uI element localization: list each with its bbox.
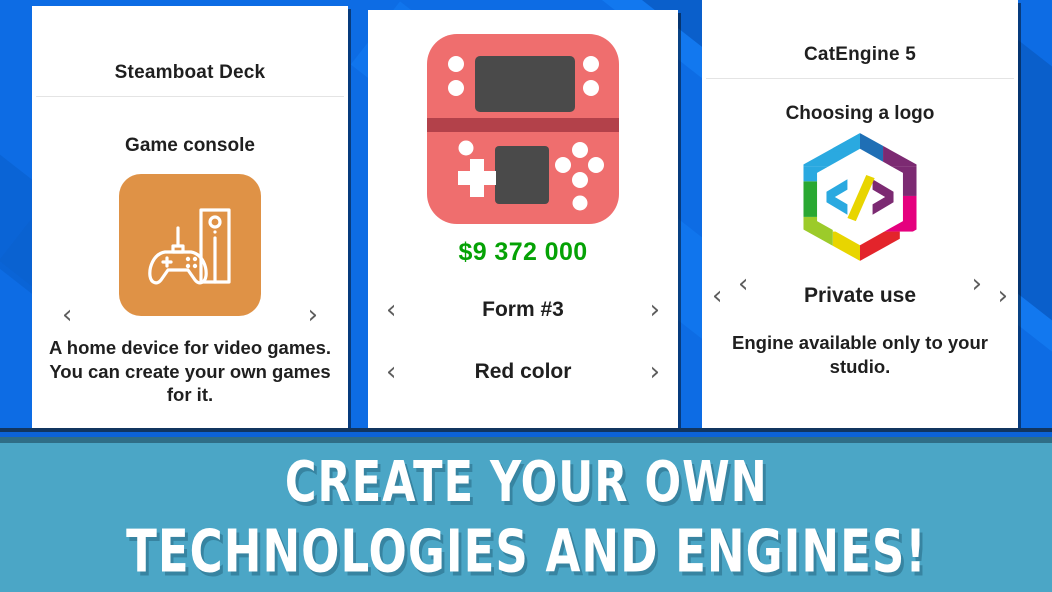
license-picker[interactable]: ‹ Private use › [702,283,1018,309]
color-picker[interactable]: ‹ Red color › [368,359,678,385]
console-card[interactable]: Steamboat Deck Game console [32,6,348,428]
handheld-card-body: $9 372 000 ‹ Form #3 › ‹ Red color › [368,10,678,428]
banner-line-2: Technologies and engines! [126,516,927,585]
color-next-arrow[interactable]: › [650,359,660,385]
banner-line-1: Create your own [285,450,768,515]
engine-card-title: CatEngine 5 [702,0,1018,78]
logo-next-arrow[interactable]: › [972,271,982,297]
promo-banner: Create your own Technologies and engines… [0,443,1052,592]
handheld-console-illustration [427,34,619,224]
engine-card[interactable]: CatEngine 5 Choosing a logo [702,0,1018,428]
engine-card-body: Choosing a logo [702,79,1018,428]
form-prev-arrow[interactable]: ‹ [386,297,396,323]
console-description: A home device for video games. You can c… [32,336,348,407]
engine-description: Engine available only to your studio. [702,331,1018,378]
handheld-card[interactable]: $9 372 000 ‹ Form #3 › ‹ Red color › [368,10,678,428]
console-card-body: Game console [32,97,348,428]
app-screenshot: Steamboat Deck Game console [0,0,1052,592]
console-subtitle: Game console [125,135,255,157]
game-console-icon-tile [119,174,261,316]
form-picker[interactable]: ‹ Form #3 › [368,297,678,323]
logo-prev-arrow[interactable]: ‹ [738,271,748,297]
license-prev-arrow[interactable]: ‹ [712,283,722,309]
console-next-arrow[interactable]: › [308,302,318,328]
license-picker-label: Private use [722,284,997,308]
card-title: Steamboat Deck [32,6,348,96]
console-prev-arrow[interactable]: ‹ [62,302,72,328]
color-prev-arrow[interactable]: ‹ [386,359,396,385]
rainbow-hexagon-code-logo [797,131,923,263]
form-next-arrow[interactable]: › [650,297,660,323]
engine-subtitle: Choosing a logo [786,103,935,125]
price-label: $9 372 000 [458,238,587,267]
license-next-arrow[interactable]: › [998,283,1008,309]
form-picker-label: Form #3 [396,298,649,322]
card-row: Steamboat Deck Game console [0,0,1052,436]
color-picker-label: Red color [396,360,649,384]
game-console-icon [135,190,245,300]
